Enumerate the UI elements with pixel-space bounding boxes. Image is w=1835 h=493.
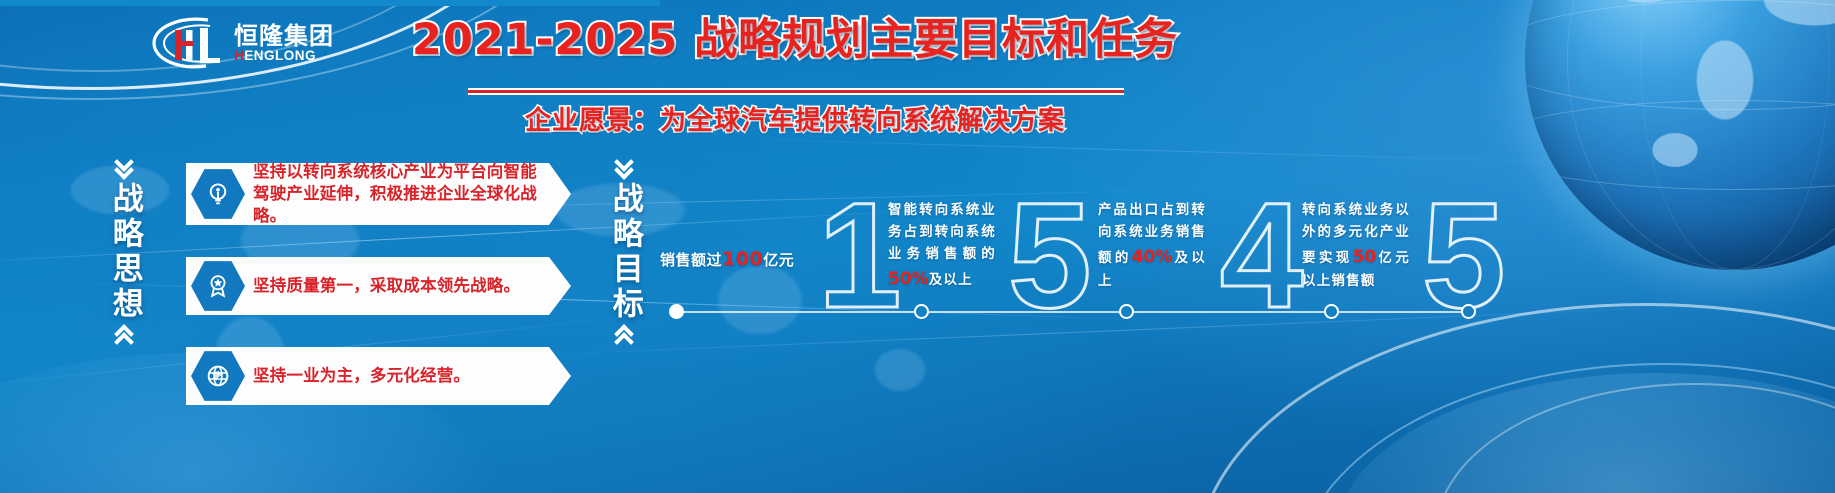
strategy-banner: 恒隆集团 HENGLONG 2021-2025 战略规划主要目标和任务 企业愿景… <box>0 0 1835 493</box>
bottom-swoosh-arc <box>1435 383 1835 493</box>
pill-icon-container <box>191 349 245 403</box>
timeline-dot <box>914 304 929 319</box>
award-medal-icon <box>191 259 245 313</box>
goal-text-1: 销售额过100亿元 <box>660 248 812 270</box>
list-item-label: 坚持质量第一，采取成本领先战略。 <box>253 275 546 297</box>
list-item-label: 坚持以转向系统核心产业为平台向智能驾驶产业延伸，积极推进企业全球化战略。 <box>253 161 571 228</box>
goal-highlight: 100 <box>722 248 763 270</box>
page-title: 2021-2025 战略规划主要目标和任务 <box>380 18 1210 63</box>
bottom-swoosh-glow <box>1335 373 1835 493</box>
chevron-down-group <box>117 158 131 174</box>
chevron-up-group <box>117 330 131 346</box>
list-item[interactable]: 坚持质量第一，采取成本领先战略。 <box>186 257 571 315</box>
company-logo: 恒隆集团 HENGLONG <box>148 10 348 76</box>
logo-name-en-rest: ENGLONG <box>244 48 316 63</box>
title-container: 2021-2025 战略规划主要目标和任务 <box>380 18 1210 63</box>
list-item[interactable]: 坚持以转向系统核心产业为平台向智能驾驶产业延伸，积极推进企业全球化战略。 <box>186 163 571 225</box>
bottom-swoosh-arc <box>1295 363 1835 493</box>
goal-text-4: 转向系统业务以外的多元化产业要实现50亿元以上销售额 <box>1302 200 1410 293</box>
section-label-text: 战略思想 <box>103 182 146 322</box>
section-label-strategy-thought: 战略思想 <box>103 158 146 346</box>
goal-text-pre: 销售额过 <box>660 251 722 269</box>
timeline-dot <box>669 304 684 319</box>
goal-highlight: 40% <box>1132 247 1173 267</box>
logo-name-cn: 恒隆集团 <box>234 24 334 48</box>
page-subtitle: 企业愿景：为全球汽车提供转向系统解决方案 <box>380 100 1210 137</box>
goal-highlight: 50 <box>1353 247 1377 267</box>
title-divider <box>468 88 1124 95</box>
section-label-text: 战略目标 <box>603 182 646 322</box>
goal-text-pre: 智能转向系统业务占到转向系统业务销售额的 <box>888 202 996 262</box>
logo-name-en: HENGLONG <box>234 49 334 63</box>
timeline-line <box>676 311 1468 313</box>
subtitle-container: 企业愿景：为全球汽车提供转向系统解决方案 <box>380 100 1210 137</box>
logo-wordmark: 恒隆集团 HENGLONG <box>234 24 334 63</box>
strategy-thought-list: 坚持以转向系统核心产业为平台向智能驾驶产业延伸，积极推进企业全球化战略。 坚持质… <box>186 163 571 437</box>
pill-icon-container <box>191 259 245 313</box>
goal-text-2: 智能转向系统业务占到转向系统业务销售额的50%及以上 <box>888 200 996 293</box>
chevron-down-group <box>617 158 631 174</box>
list-item[interactable]: 坚持一业为主，多元化经营。 <box>186 347 571 405</box>
list-item-label: 坚持一业为主，多元化经营。 <box>253 365 496 387</box>
swoosh-mask <box>0 0 660 6</box>
goal-highlight: 50% <box>888 269 929 289</box>
henglong-logo-mark <box>148 14 226 72</box>
lightbulb-icon <box>191 167 245 221</box>
timeline-dot <box>1119 304 1134 319</box>
globe-icon <box>191 349 245 403</box>
pill-icon-container <box>191 167 245 221</box>
timeline-dot <box>1461 304 1476 319</box>
light-beam <box>700 137 1600 163</box>
goal-text-post: 亿元 <box>763 251 794 269</box>
timeline-dot <box>1324 304 1339 319</box>
section-label-strategy-goal: 战略目标 <box>603 158 646 346</box>
logo-name-en-initial: H <box>234 48 244 63</box>
goal-timeline <box>664 302 1814 322</box>
goal-text-post: 及以上 <box>929 272 973 288</box>
chevron-up-group <box>617 330 631 346</box>
goal-text-3: 产品出口占到转向系统业务销售额的40%及以上 <box>1098 200 1206 293</box>
